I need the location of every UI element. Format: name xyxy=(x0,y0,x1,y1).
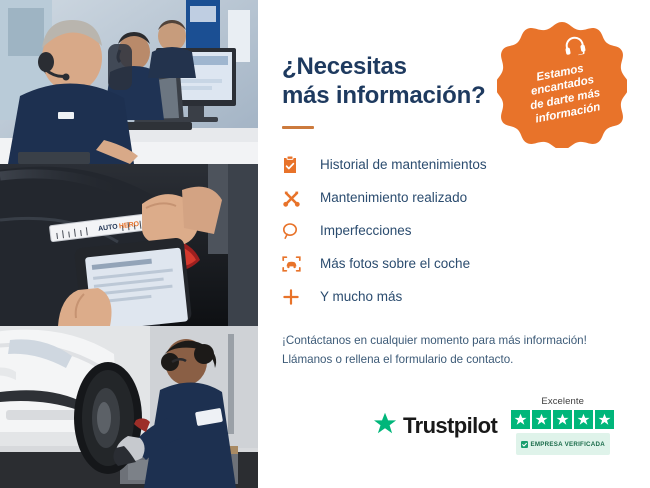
rating-label: Excelente xyxy=(541,396,584,407)
contact-text: ¡Contáctanos en cualquier momento para m… xyxy=(282,331,650,371)
check-badge-icon xyxy=(521,435,528,453)
content-panel: ¿Necesitas más información? Historial de… xyxy=(258,0,650,488)
trustpilot-rating: Excelente EMPRESA VERIFICADA xyxy=(511,396,614,455)
list-item: Y mucho más xyxy=(282,281,650,314)
star-icon xyxy=(511,410,530,429)
promo-card: AUTO HERO xyxy=(0,0,650,488)
mechanic-wheel-inspection-photo xyxy=(0,326,258,488)
contact-line-1: ¡Contáctanos en cualquier momento para m… xyxy=(282,331,650,351)
trustpilot-logo[interactable]: Trustpilot xyxy=(373,412,497,440)
plus-icon xyxy=(282,286,308,308)
star-icon xyxy=(532,410,551,429)
status-badge: Estamos encantados de darte más informac… xyxy=(497,18,627,148)
verified-label: EMPRESA VERIFICADA xyxy=(531,441,605,448)
list-item: Mantenimiento realizado xyxy=(282,182,650,215)
trustpilot-widget[interactable]: Trustpilot Excelente xyxy=(373,396,614,455)
contact-line-2: Llámanos o rellena el formulario de cont… xyxy=(282,350,650,370)
list-item: Más fotos sobre el coche xyxy=(282,248,650,281)
call-center-agents-photo xyxy=(0,0,258,164)
magnifier-icon xyxy=(282,220,308,242)
trustpilot-wordmark: Trustpilot xyxy=(403,413,497,439)
star-icon xyxy=(574,410,593,429)
star-rating xyxy=(511,410,614,429)
list-item-label: Imperfecciones xyxy=(320,224,412,238)
star-icon xyxy=(373,412,397,440)
list-item-label: Mantenimiento realizado xyxy=(320,191,467,205)
star-icon xyxy=(553,410,572,429)
list-item: Historial de mantenimientos xyxy=(282,149,650,182)
feature-list: Historial de mantenimientos M xyxy=(282,149,650,314)
headline-line-1: ¿Necesitas xyxy=(282,53,407,80)
photo-collage: AUTO HERO xyxy=(0,0,258,488)
list-item-label: Más fotos sobre el coche xyxy=(320,257,470,271)
list-item-label: Historial de mantenimientos xyxy=(320,158,487,172)
accent-divider xyxy=(282,126,314,129)
list-item-label: Y mucho más xyxy=(320,290,402,304)
badge-text: Estamos encantados de darte más informac… xyxy=(486,7,638,159)
list-item: Imperfecciones xyxy=(282,215,650,248)
car-inspection-ruler-tablet-photo: AUTO HERO xyxy=(0,164,258,326)
headline-line-2: más información? xyxy=(282,81,532,110)
star-icon xyxy=(595,410,614,429)
car-frame-icon xyxy=(282,253,308,275)
clipboard-check-icon xyxy=(282,154,308,176)
status-badge: EMPRESA VERIFICADA xyxy=(516,433,610,455)
tools-crossed-icon xyxy=(282,187,308,209)
